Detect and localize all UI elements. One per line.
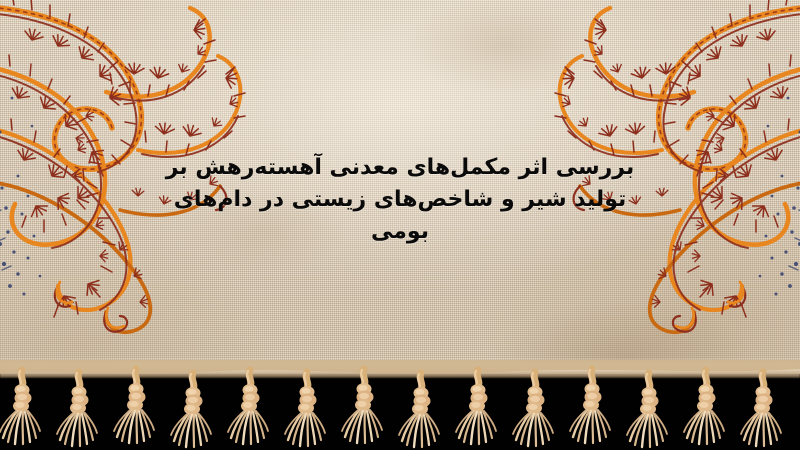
title-line-1: بررسی اثر مکمل‌های معدنی آهسته‌رهش بر [150,152,650,184]
title-line-2: تولید شیر و شاخص‌های زیستی در دام‌های [150,184,650,216]
title-line-3: بومی [150,216,650,248]
title-card: بررسی اثر مکمل‌های معدنی آهسته‌رهش بر تو… [0,0,800,450]
page-title: بررسی اثر مکمل‌های معدنی آهسته‌رهش بر تو… [150,152,650,248]
tassel-fringe [0,360,800,450]
